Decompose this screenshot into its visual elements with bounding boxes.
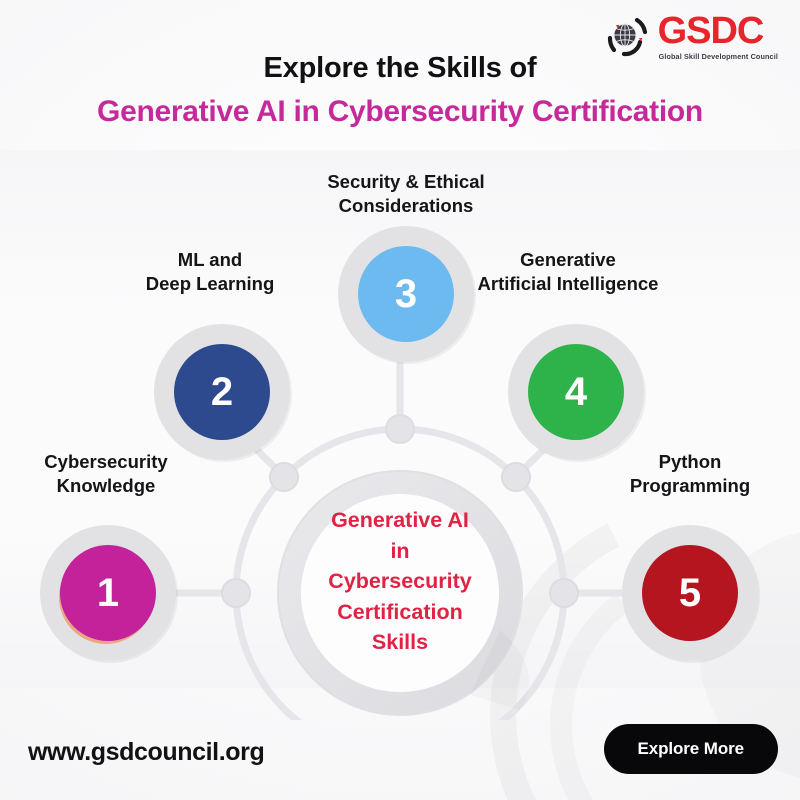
node-1-label-line1: Cybersecurity <box>0 450 236 474</box>
node-4-label-line2: Artificial Intelligence <box>438 272 698 296</box>
node-4-label: Generative Artificial Intelligence <box>438 248 698 297</box>
title-primary: Explore the Skills of <box>0 52 800 85</box>
node-4-circle[interactable]: 4 <box>528 344 624 440</box>
node-2-number: 2 <box>211 372 233 412</box>
node-3-label-line2: Considerations <box>276 194 536 218</box>
node-2-circle[interactable]: 2 <box>174 344 270 440</box>
node-4-label-line1: Generative <box>438 248 698 272</box>
center-line-5: Skills <box>285 627 515 658</box>
node-5-label-line1: Python <box>560 450 800 474</box>
center-line-3: Cybersecurity <box>285 566 515 597</box>
center-line-2: in <box>285 536 515 567</box>
node-1-label: Cybersecurity Knowledge <box>0 450 236 499</box>
logo-wordmark: GSDC <box>658 12 764 50</box>
page-title: Explore the Skills of Generative AI in C… <box>0 52 800 129</box>
node-2-label: ML and Deep Learning <box>80 248 340 297</box>
node-2-label-line1: ML and <box>80 248 340 272</box>
center-line-1: Generative AI <box>285 505 515 536</box>
skills-diagram: 3 Security & Ethical Considerations 2 ML… <box>0 150 800 720</box>
center-line-4: Certification <box>285 597 515 628</box>
node-5-number: 5 <box>679 573 701 613</box>
node-3-label: Security & Ethical Considerations <box>276 170 536 219</box>
node-5-circle[interactable]: 5 <box>642 545 738 641</box>
explore-more-button[interactable]: Explore More <box>604 724 779 774</box>
diagram-center-text: Generative AI in Cybersecurity Certifica… <box>285 505 515 658</box>
node-1-circle[interactable]: 1 <box>60 545 156 641</box>
node-3-label-line1: Security & Ethical <box>276 170 536 194</box>
node-4-number: 4 <box>565 372 587 412</box>
node-1-number: 1 <box>97 573 119 613</box>
node-5-label: Python Programming <box>560 450 800 499</box>
title-secondary: Generative AI in Cybersecurity Certifica… <box>0 95 800 129</box>
node-3-number: 3 <box>395 274 417 314</box>
node-5-label-line2: Programming <box>560 474 800 498</box>
node-2-label-line2: Deep Learning <box>80 272 340 296</box>
node-1-label-line2: Knowledge <box>0 474 236 498</box>
website-url[interactable]: www.gsdcouncil.org <box>28 738 264 767</box>
